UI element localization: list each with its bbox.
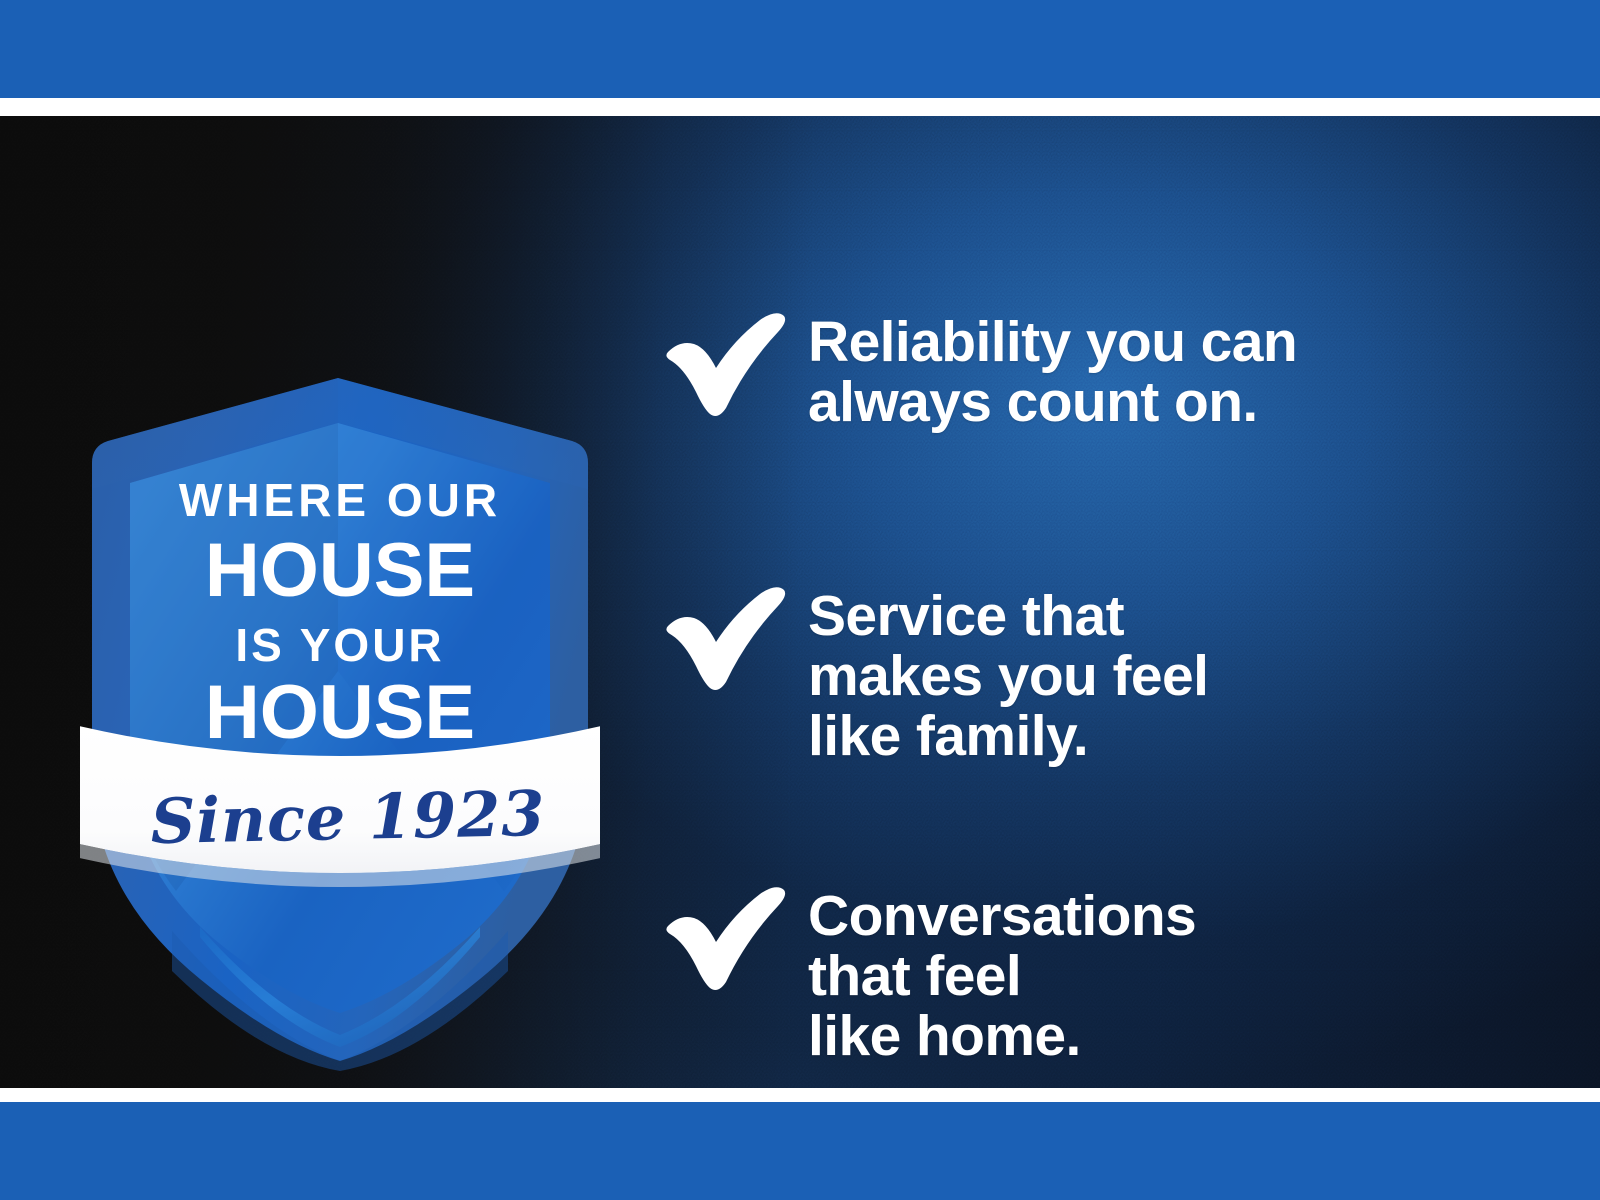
checkmark-icon [660,310,790,420]
benefit-text: Conversations that feel like home. [808,884,1196,1066]
benefit-text: Reliability you can always count on. [808,310,1297,432]
benefits-list: Reliability you can always count on. Ser… [660,232,1560,1088]
top-brand-band [0,0,1600,98]
main-stage: WHERE OUR HOUSE IS YOUR HOUSE Since 1923… [0,116,1600,1088]
benefit-item: Service that makes you feel like family. [660,584,1560,766]
checkmark-icon [660,584,790,694]
badge-line-isyour: IS YOUR [80,621,600,669]
badge-since-text: Since 1923 [79,779,616,856]
badge-line-house2: HOUSE [80,673,600,753]
badge-line-where: WHERE OUR [80,476,600,524]
badge-line-house1: HOUSE [80,531,600,611]
promo-poster: WHERE OUR HOUSE IS YOUR HOUSE Since 1923… [0,0,1600,1200]
benefit-text: Service that makes you feel like family. [808,584,1208,766]
checkmark-icon [660,884,790,994]
benefit-item: Reliability you can always count on. [660,310,1560,432]
shield-badge: WHERE OUR HOUSE IS YOUR HOUSE Since 1923 [80,371,600,1071]
benefit-item: Conversations that feel like home. [660,884,1560,1066]
bottom-brand-band [0,1102,1600,1200]
